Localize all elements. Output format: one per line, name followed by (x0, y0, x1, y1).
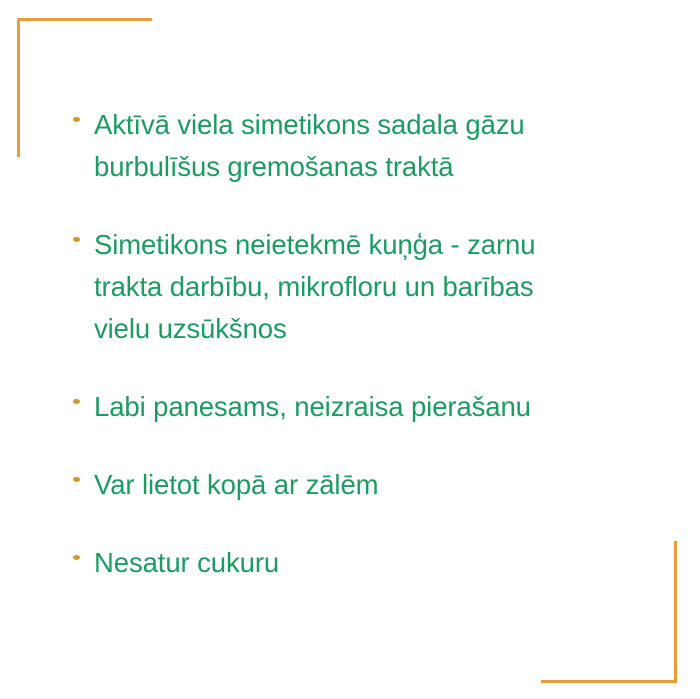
bullet-dot-icon (73, 555, 80, 560)
list-item-text: Var lietot kopā ar zālēm (94, 464, 670, 506)
list-item: Var lietot kopā ar zālēm (70, 464, 670, 506)
list-item-text: Labi panesams, neizraisa pierašanu (94, 386, 670, 428)
corner-bracket-top-left-vertical (17, 18, 20, 157)
corner-bracket-bottom-right-horizontal (541, 680, 677, 683)
bullet-dot-icon (73, 477, 80, 482)
slide-canvas: Aktīvā viela simetikons sadala gāzu burb… (0, 0, 700, 699)
bullet-dot-icon (73, 237, 80, 242)
list-item-text: Simetikons neietekmē kuņģa - zarnu trakt… (94, 224, 670, 350)
bullet-dot-icon (73, 399, 80, 404)
list-item-text: Nesatur cukuru (94, 542, 670, 584)
list-item: Nesatur cukuru (70, 542, 670, 584)
list-item: Simetikons neietekmē kuņģa - zarnu trakt… (70, 224, 670, 350)
corner-bracket-top-left-horizontal (17, 18, 152, 21)
list-item: Labi panesams, neizraisa pierašanu (70, 386, 670, 428)
list-item: Aktīvā viela simetikons sadala gāzu burb… (70, 104, 670, 188)
list-item-text: Aktīvā viela simetikons sadala gāzu burb… (94, 104, 670, 188)
corner-bracket-bottom-right-vertical (674, 541, 677, 683)
bullet-list: Aktīvā viela simetikons sadala gāzu burb… (70, 104, 670, 584)
bullet-dot-icon (73, 117, 80, 122)
